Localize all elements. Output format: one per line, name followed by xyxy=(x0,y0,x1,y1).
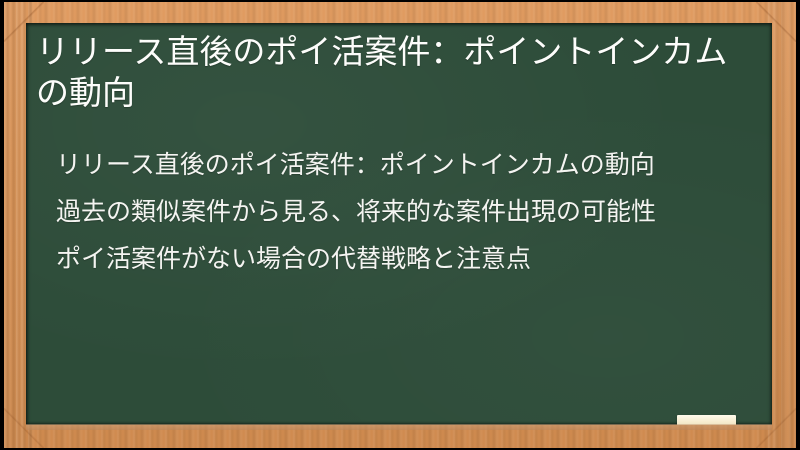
chalkboard-slide: リリース直後のポイ活案件：ポイントインカムの動向 リリース直後のポイ活案件：ポイ… xyxy=(0,0,800,450)
table-of-contents-list: リリース直後のポイ活案件：ポイントインカムの動向 過去の類似案件から見る、将来的… xyxy=(56,146,750,287)
list-item: リリース直後のポイ活案件：ポイントインカムの動向 xyxy=(56,146,750,184)
page-title: リリース直後のポイ活案件：ポイントインカムの動向 xyxy=(36,31,756,113)
board-ledge xyxy=(26,424,772,430)
list-item: 過去の類似案件から見る、将来的な案件出現の可能性 xyxy=(56,193,750,231)
list-item: ポイ活案件がない場合の代替戦略と注意点 xyxy=(56,240,750,278)
chalkboard-surface: リリース直後のポイ活案件：ポイントインカムの動向 リリース直後のポイ活案件：ポイ… xyxy=(26,23,772,425)
